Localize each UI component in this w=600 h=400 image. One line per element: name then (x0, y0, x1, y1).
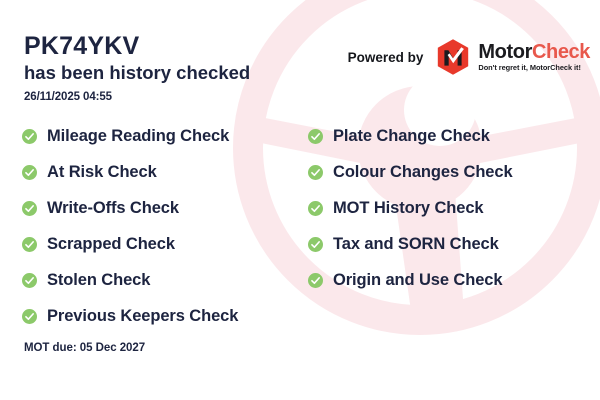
checklist-item-label: Scrapped Check (47, 235, 175, 254)
checklist-column-right: Plate Change CheckColour Changes CheckMO… (308, 118, 513, 298)
history-check-summary-card: PK74YKV has been history checked 26/11/2… (0, 0, 600, 400)
checklist-item: Mileage Reading Check (22, 118, 238, 154)
checklist-item: At Risk Check (22, 154, 238, 190)
check-circle-icon (22, 201, 37, 216)
checklist-item: Scrapped Check (22, 226, 238, 262)
check-timestamp: 26/11/2025 04:55 (24, 91, 250, 103)
vehicle-registration-plate: PK74YKV (24, 32, 250, 60)
checklist-item: Tax and SORN Check (308, 226, 513, 262)
mot-due-date: MOT due: 05 Dec 2027 (24, 342, 145, 354)
checklist-item: Plate Change Check (308, 118, 513, 154)
checklist-item-label: Previous Keepers Check (47, 307, 238, 326)
checklist-item: Write-Offs Check (22, 190, 238, 226)
check-circle-icon (308, 201, 323, 216)
powered-by-label: Powered by (348, 50, 424, 65)
check-circle-icon (308, 165, 323, 180)
motorcheck-wordmark: MotorCheck Don't regret it, MotorCheck i… (478, 42, 590, 71)
checklist-item: Colour Changes Check (308, 154, 513, 190)
checklist-item: Previous Keepers Check (22, 298, 238, 334)
checklist-item-label: Colour Changes Check (333, 163, 513, 182)
motorcheck-hexagon-logo-icon (435, 38, 471, 76)
checklist-item-label: Plate Change Check (333, 127, 490, 146)
checklist-item: Stolen Check (22, 262, 238, 298)
checklist-item-label: At Risk Check (47, 163, 157, 182)
footer: MOT due: 05 Dec 2027 (24, 342, 145, 354)
brand-tagline: Don't regret it, MotorCheck it! (478, 64, 590, 71)
wordmark-check: Check (532, 41, 590, 63)
wordmark-text: MotorCheck (478, 42, 590, 62)
check-circle-icon (22, 237, 37, 252)
check-circle-icon (308, 273, 323, 288)
wordmark-motor: Motor (478, 41, 532, 63)
check-circle-icon (22, 273, 37, 288)
page-title: has been history checked (24, 62, 250, 84)
check-circle-icon (22, 309, 37, 324)
checklist-item-label: Write-Offs Check (47, 199, 179, 218)
checklist-item-label: Origin and Use Check (333, 271, 502, 290)
checklist-column-left: Mileage Reading CheckAt Risk CheckWrite-… (22, 118, 238, 334)
check-circle-icon (308, 129, 323, 144)
checklist-item: Origin and Use Check (308, 262, 513, 298)
check-circle-icon (22, 165, 37, 180)
checklist-item-label: Mileage Reading Check (47, 127, 229, 146)
checklist-item-label: Stolen Check (47, 271, 150, 290)
check-circle-icon (308, 237, 323, 252)
brand-bar: Powered by MotorCheck Don't regret it, M… (348, 38, 590, 76)
checklist-item-label: Tax and SORN Check (333, 235, 499, 254)
checklist-item-label: MOT History Check (333, 199, 484, 218)
header: PK74YKV has been history checked 26/11/2… (24, 32, 250, 103)
check-circle-icon (22, 129, 37, 144)
checklist-item: MOT History Check (308, 190, 513, 226)
